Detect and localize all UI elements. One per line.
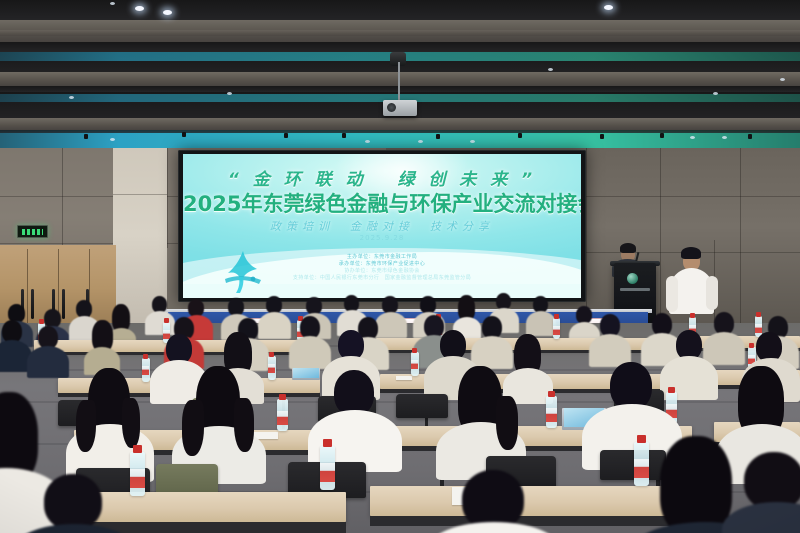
laptop-screen xyxy=(293,368,319,378)
chair[interactable] xyxy=(600,450,666,480)
projection-screen: “ 金 环 联 动 绿 创 未 来 ” 2025年东莞绿色金融与环保产业交流对接… xyxy=(183,154,581,298)
door-handle[interactable] xyxy=(31,289,34,319)
water-bottle xyxy=(411,352,419,376)
water-bottle xyxy=(277,399,288,431)
green-finance-calligraphy-logo xyxy=(219,249,267,295)
exit-sign xyxy=(17,225,48,238)
screen-date: 2025.9.28 xyxy=(183,234,581,242)
chair[interactable] xyxy=(396,394,448,418)
water-bottle xyxy=(268,356,276,380)
ceiling xyxy=(0,0,800,152)
ceiling-spotlight xyxy=(604,5,613,10)
water-bottle xyxy=(130,452,145,496)
water-bottle xyxy=(634,442,649,486)
screen-slogan: “ 金 环 联 动 绿 创 未 来 ” xyxy=(183,165,581,190)
ceiling-spotlight xyxy=(135,6,144,11)
podium-logo xyxy=(627,273,638,284)
podium-logo-text xyxy=(620,288,650,291)
screen-subtitle: 政策培训 金融对接 技术分享 xyxy=(183,218,581,234)
water-bottle xyxy=(553,318,560,339)
projector-lens xyxy=(387,103,396,112)
water-bottle xyxy=(320,446,335,490)
water-bottle xyxy=(546,396,557,428)
screen-main-title: 2025年东莞绿色金融与环保产业交流对接会 xyxy=(183,188,581,218)
ceiling-projector xyxy=(383,100,417,116)
conference-room-photo: “ 金 环 联 动 绿 创 未 来 ” 2025年东莞绿色金融与环保产业交流对接… xyxy=(0,0,800,533)
water-bottle xyxy=(142,358,150,382)
door-handle[interactable] xyxy=(62,289,65,319)
handout-paper xyxy=(396,376,412,380)
ceiling-spotlight xyxy=(163,10,172,15)
projector-rod xyxy=(398,62,400,102)
